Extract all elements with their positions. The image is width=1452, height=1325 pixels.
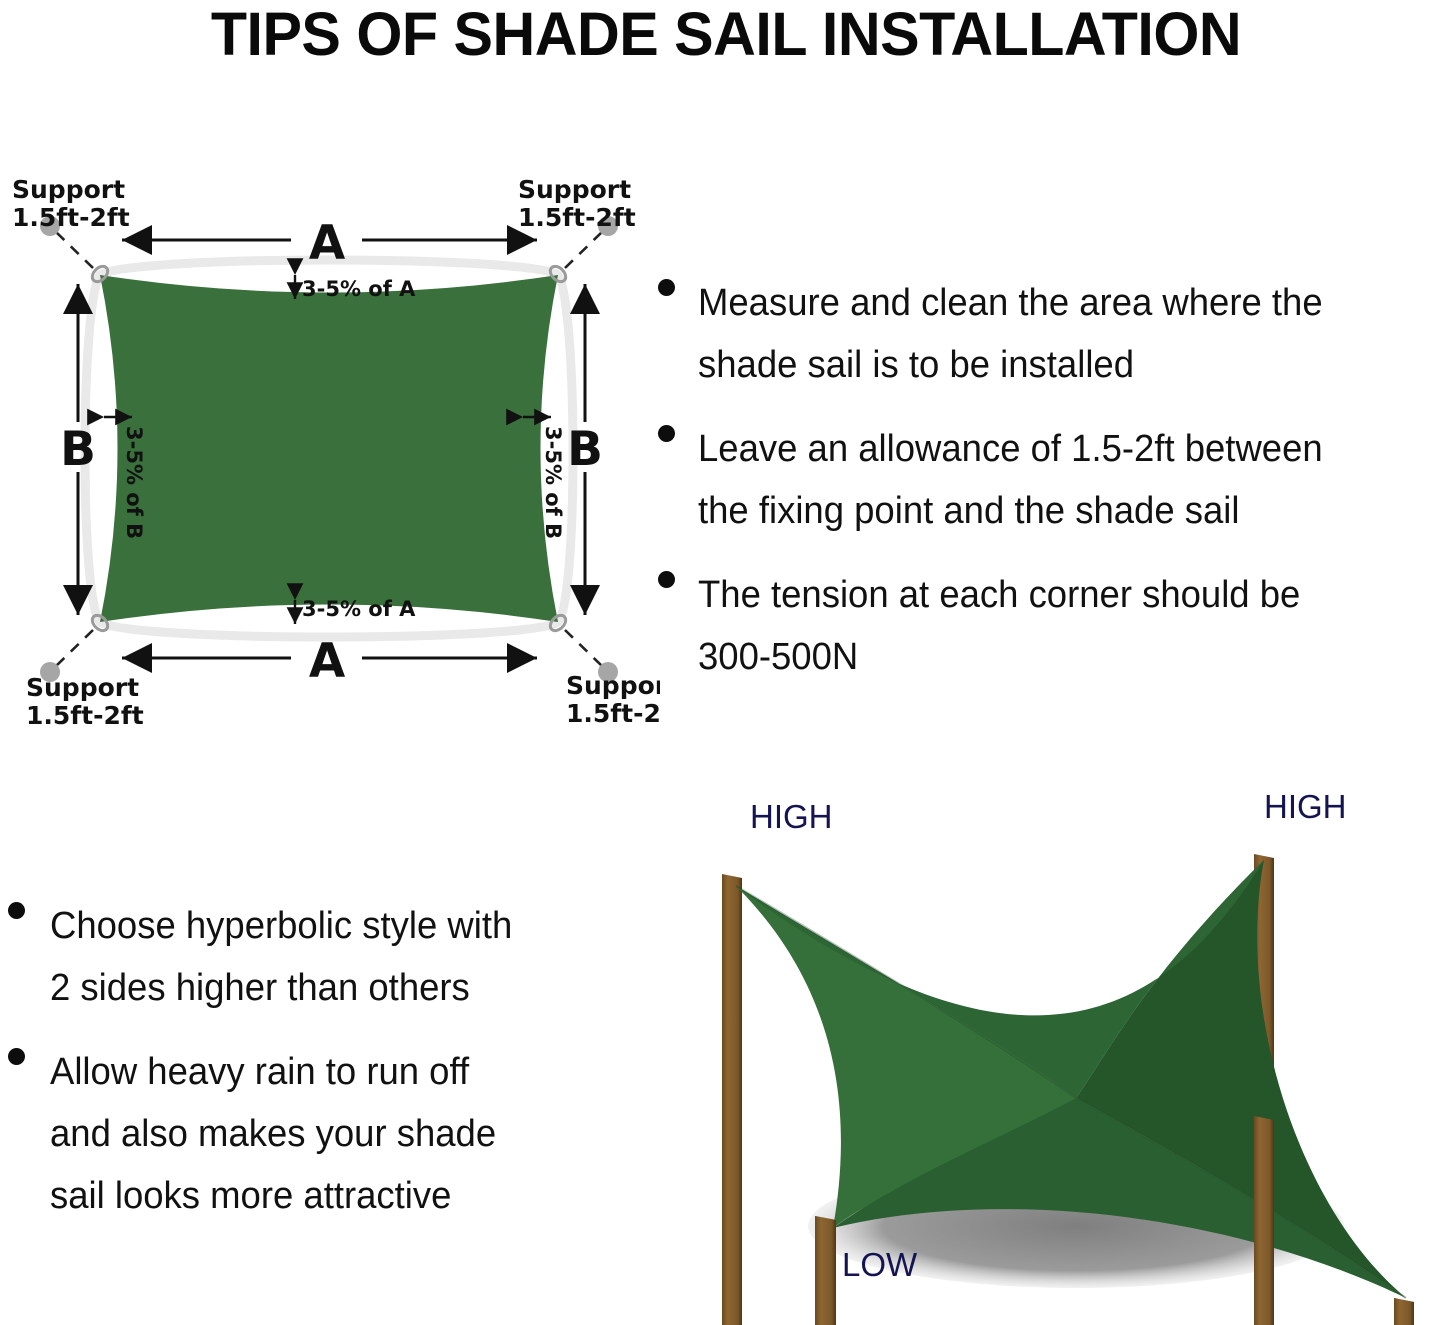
list-item-text: Leave an allowance of 1.5-2ft between th… — [698, 418, 1422, 542]
curvature-left-label: 3-5% of B — [122, 426, 146, 539]
dimension-a-top-label: A — [309, 216, 346, 271]
bullet-icon — [8, 1048, 25, 1065]
rectangular-sail-diagram: A 3-5% of A A 3-5% of A B 3-5% of B — [0, 160, 660, 730]
installation-tips-list-right: Measure and clean the area where the sha… — [640, 272, 1452, 688]
curvature-right-label: 3-5% of B — [541, 426, 565, 539]
post-high-left — [722, 874, 742, 1325]
label-high-left: HIGH — [750, 798, 833, 835]
support-label-top-right-line1: Support — [518, 175, 631, 204]
bullet-icon — [658, 425, 675, 442]
list-item: The tension at each corner should be 300… — [640, 564, 1452, 688]
sail-shape — [100, 275, 558, 622]
dimension-b-left-label: B — [60, 422, 96, 477]
support-label-top-right-line2: 1.5ft-2ft — [518, 203, 636, 232]
hyperbolic-sail-illustration: HIGH HIGH LOW LOW — [676, 786, 1452, 1325]
label-low-left: LOW — [842, 1246, 918, 1283]
curvature-bottom-label: 3-5% of A — [302, 597, 416, 621]
bullet-icon — [8, 902, 25, 919]
dimension-a-bottom-label: A — [309, 634, 346, 689]
list-item-text: Measure and clean the area where the sha… — [698, 272, 1422, 396]
list-item: Leave an allowance of 1.5-2ft between th… — [640, 418, 1452, 542]
bullet-icon — [658, 279, 675, 296]
post-low-left-front — [815, 1216, 836, 1325]
bullet-icon — [658, 571, 675, 588]
support-label-top-left-line2: 1.5ft-2ft — [12, 203, 130, 232]
support-label-top-left-line1: Support — [12, 175, 125, 204]
support-label-bottom-right-line2: 1.5ft-2ft — [566, 699, 660, 728]
label-high-right: HIGH — [1264, 788, 1347, 825]
dimension-b-right-label: B — [567, 422, 603, 477]
list-item-text: The tension at each corner should be 300… — [698, 564, 1422, 688]
curvature-top-label: 3-5% of A — [302, 277, 416, 301]
list-item: Measure and clean the area where the sha… — [640, 272, 1452, 396]
list-item-text: Allow heavy rain to run off and also mak… — [50, 1041, 616, 1227]
post-low-right-front — [1394, 1298, 1414, 1325]
support-label-bottom-left-line2: 1.5ft-2ft — [26, 701, 144, 730]
support-label-bottom-left-line1: Support — [26, 673, 139, 702]
installation-tips-list-left: Choose hyperbolic style with 2 sides hig… — [0, 895, 640, 1227]
post-high-right-front — [1254, 1116, 1274, 1325]
list-item: Choose hyperbolic style with 2 sides hig… — [0, 895, 640, 1019]
page-title: TIPS OF SHADE SAIL INSTALLATION — [22, 0, 1430, 66]
list-item: Allow heavy rain to run off and also mak… — [0, 1041, 640, 1227]
list-item-text: Choose hyperbolic style with 2 sides hig… — [50, 895, 616, 1019]
